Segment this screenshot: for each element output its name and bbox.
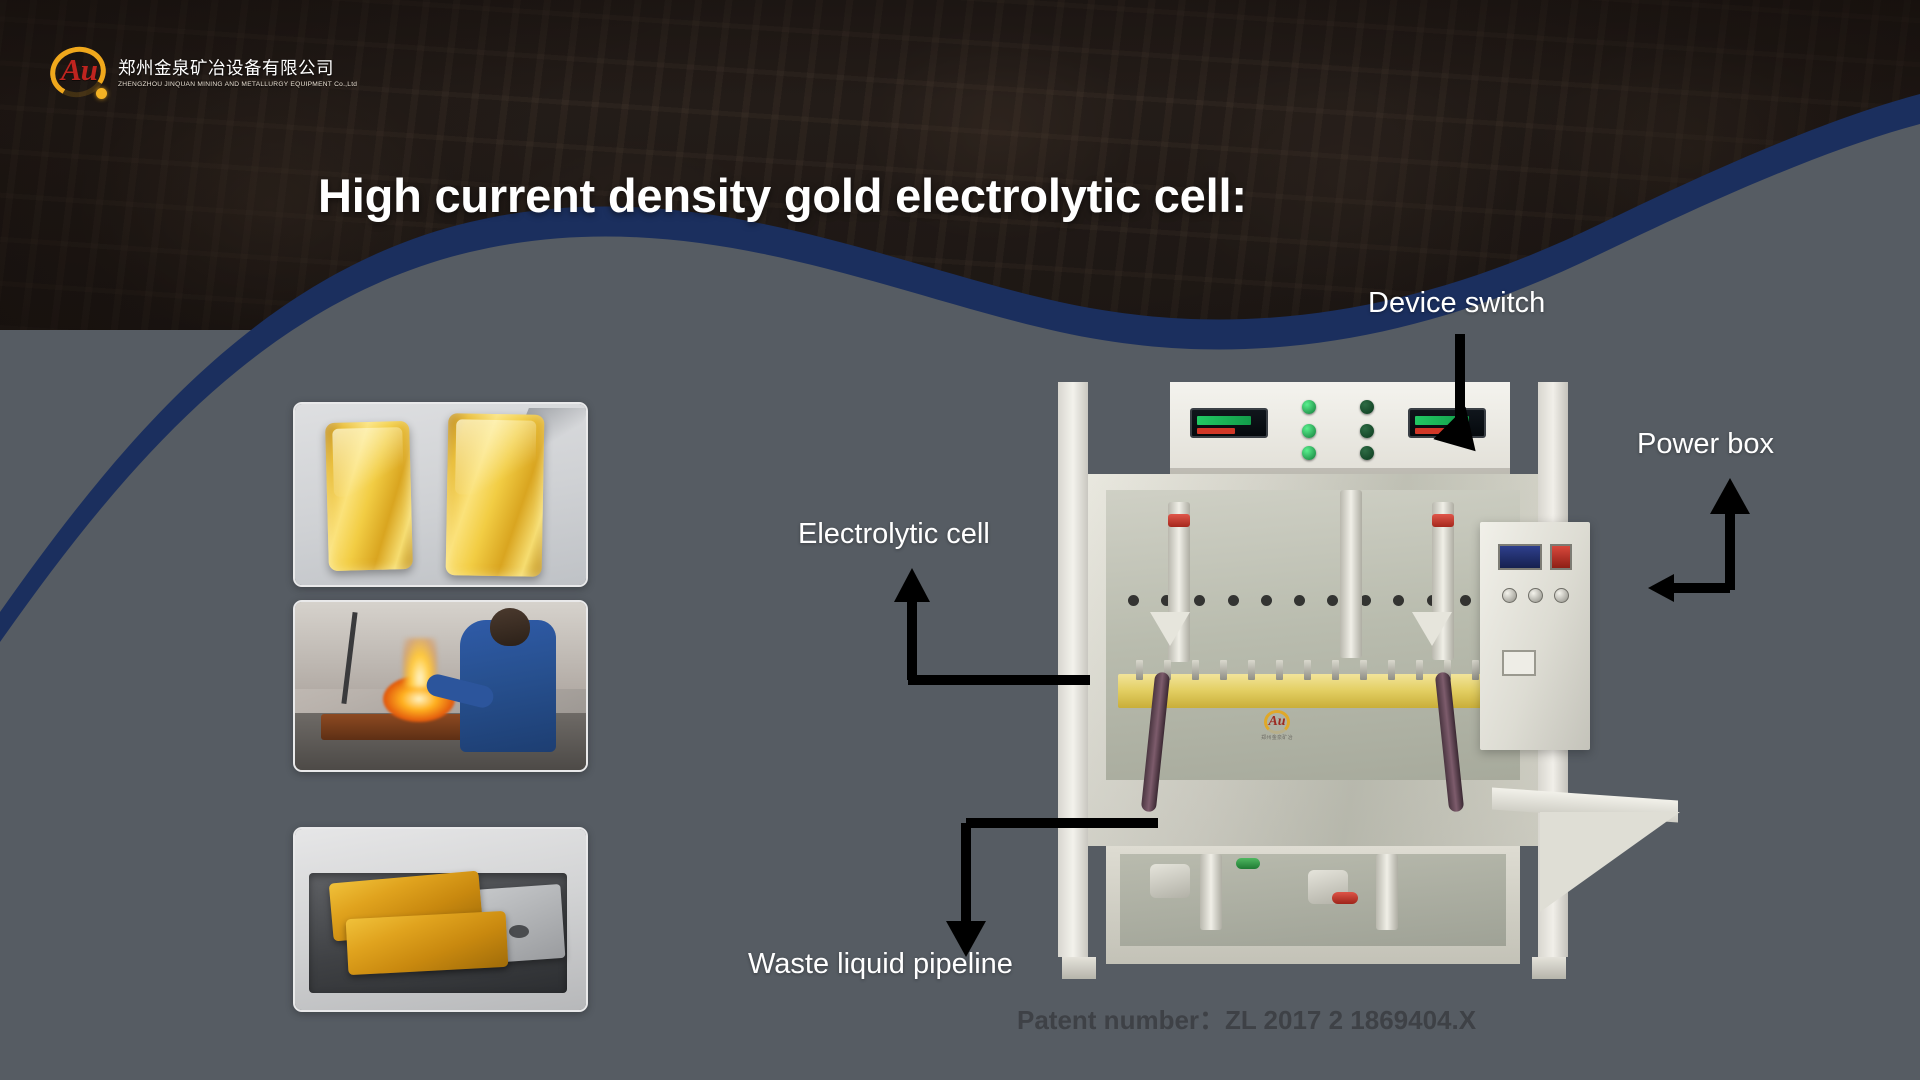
vent-hole [1194, 595, 1205, 606]
gold-smelting-photo [293, 600, 588, 772]
callout-electrolytic-cell: Electrolytic cell [798, 518, 990, 551]
pipe-cone-left [1150, 612, 1190, 646]
gold-bar-left [325, 421, 413, 571]
patent-number-text: Patent number：ZL 2017 2 1869404.X [1017, 1000, 1476, 1037]
power-box-knob-2[interactable] [1528, 588, 1543, 603]
power-box-arrow [1640, 470, 1840, 610]
base-foot-left [1062, 957, 1096, 979]
meter-setpoint [1415, 428, 1453, 434]
machine-logo-au: Au [1246, 714, 1308, 730]
electrode [1220, 660, 1227, 680]
valve-handle-green[interactable] [1236, 858, 1260, 869]
logo-dot-shape [96, 88, 107, 99]
power-box-knob-3[interactable] [1554, 588, 1569, 603]
power-box-indicator [1550, 544, 1572, 570]
plate-hole [509, 925, 529, 938]
pipeline-valve-left [1150, 864, 1190, 898]
pipe-cone-right [1412, 612, 1452, 646]
callout-waste-liquid-pipeline: Waste liquid pipeline [748, 948, 1013, 981]
device-switch-button-1[interactable] [1302, 400, 1316, 414]
base-foot-right [1532, 957, 1566, 979]
smelting-image-content [295, 602, 586, 770]
digital-meter-left [1190, 408, 1268, 438]
gold-sponge-slab-bottom [346, 911, 509, 975]
gold-sponge-cathode-photo [293, 827, 588, 1012]
electrode [1416, 660, 1423, 680]
device-switch-button-4[interactable] [1360, 424, 1374, 438]
meter-setpoint [1197, 428, 1235, 434]
vent-hole [1460, 595, 1471, 606]
electrode [1472, 660, 1479, 680]
callout-device-switch: Device switch [1368, 287, 1545, 320]
waste-pipe-vertical-2 [1376, 854, 1398, 930]
company-name-en: ZHENGZHOU JINQUAN MINING AND METALLURGY … [118, 82, 357, 89]
meter-readout [1197, 416, 1251, 425]
machine-brand-plate: Au 郑州金泉矿冶 [1246, 710, 1308, 744]
gold-electrolytic-cell-photo: Au 郑州金泉矿冶 [1040, 372, 1670, 977]
device-switch-button-5[interactable] [1302, 446, 1316, 460]
valve-handle-red[interactable] [1332, 892, 1358, 904]
electrode [1304, 660, 1311, 680]
power-box-display [1498, 544, 1542, 570]
electrode [1248, 660, 1255, 680]
gold-bar-right [446, 413, 545, 577]
power-box-cabinet [1480, 522, 1590, 750]
side-ramp [1540, 812, 1680, 912]
au-logo-icon: Au [48, 44, 110, 102]
waste-pipe-vertical [1200, 854, 1222, 930]
electrode [1136, 660, 1143, 680]
power-box-knob-1[interactable] [1502, 588, 1517, 603]
frame-post-left [1058, 382, 1088, 957]
worker-head [490, 608, 530, 646]
meter-readout [1415, 416, 1469, 425]
logo-text-block: 郑州金泉矿冶设备有限公司 ZHENGZHOU JINQUAN MINING AN… [118, 58, 353, 88]
machine-logo-cn: 郑州金泉矿冶 [1246, 734, 1308, 741]
logo-au-text: Au [48, 52, 110, 88]
electrode [1276, 660, 1283, 680]
electrode [1332, 660, 1339, 680]
electrode [1192, 660, 1199, 680]
company-name-cn: 郑州金泉矿冶设备有限公司 [118, 60, 353, 78]
bar-sheen [455, 420, 537, 496]
vent-hole [1228, 595, 1239, 606]
device-switch-button-3[interactable] [1302, 424, 1316, 438]
electrode [1388, 660, 1395, 680]
gold-bars-photo [293, 402, 588, 587]
sponge-image-content [295, 829, 586, 1010]
device-switch-button-2[interactable] [1360, 400, 1374, 414]
vent-hole [1261, 595, 1272, 606]
electrode [1360, 660, 1367, 680]
gold-bars-image-content [295, 404, 586, 585]
feed-pipe-center [1340, 490, 1362, 658]
digital-meter-right [1408, 408, 1486, 438]
company-logo: Au 郑州金泉矿冶设备有限公司 ZHENGZHOU JINQUAN MINING… [48, 44, 353, 102]
vent-hole [1393, 595, 1404, 606]
red-valve-cap-right [1432, 514, 1454, 527]
vent-hole [1327, 595, 1338, 606]
vent-hole [1294, 595, 1305, 606]
vent-hole [1128, 595, 1139, 606]
bar-sheen [332, 427, 404, 497]
power-box-socket[interactable] [1502, 650, 1536, 676]
page-title: High current density gold electrolytic c… [318, 168, 1247, 223]
callout-power-box: Power box [1637, 428, 1774, 461]
device-switch-button-6[interactable] [1360, 446, 1374, 460]
red-valve-cap-left [1168, 514, 1190, 527]
